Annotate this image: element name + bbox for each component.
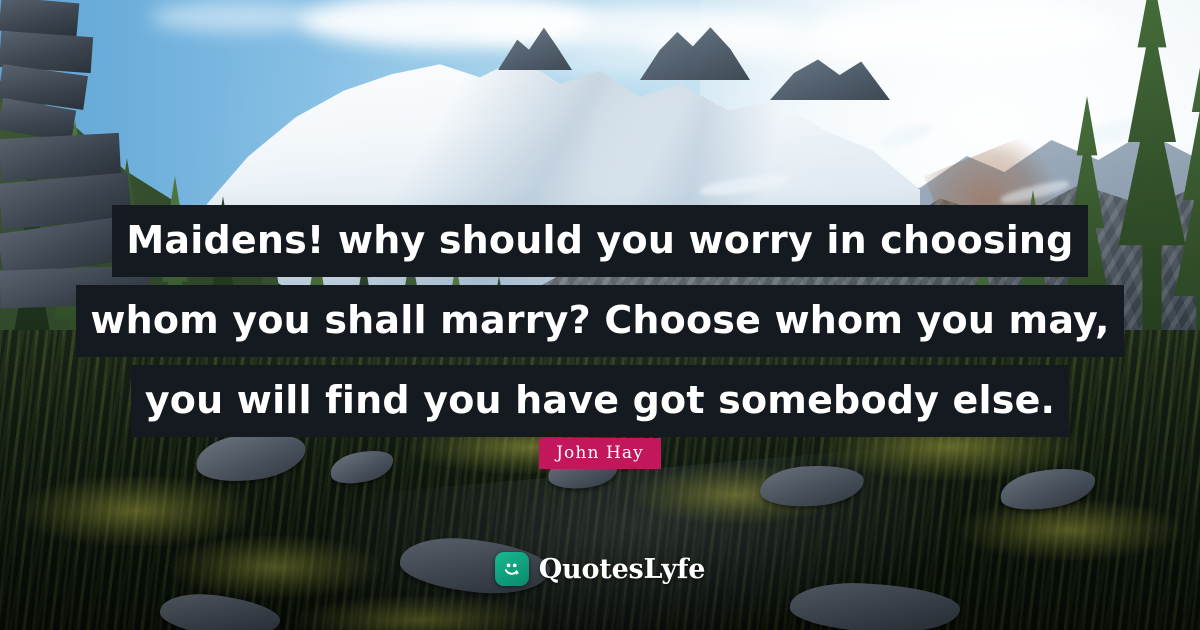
quote-line-2: whom you shall marry? Choose whom you ma…: [76, 285, 1123, 357]
quote-image-card: Maidens! why should you worry in choosin…: [0, 0, 1200, 630]
quote-line-row: Maidens! why should you worry in choosin…: [0, 205, 1200, 277]
quote-marks-icon: [495, 552, 529, 586]
cloud: [150, 2, 320, 32]
author-row: John Hay: [0, 438, 1200, 469]
author-badge: John Hay: [539, 438, 661, 469]
quote-line-1: Maidens! why should you worry in choosin…: [112, 205, 1087, 277]
quote-line-row: you will find you have got somebody else…: [0, 365, 1200, 437]
quote-line-row: whom you shall marry? Choose whom you ma…: [0, 285, 1200, 357]
quote-block: Maidens! why should you worry in choosin…: [0, 205, 1200, 437]
cloud: [810, 0, 1110, 60]
brand-name: QuotesLyfe: [539, 554, 706, 585]
sunlit-vegetation: [960, 500, 1180, 560]
quote-line-3: you will find you have got somebody else…: [131, 365, 1069, 437]
sunlit-vegetation: [300, 596, 540, 630]
brand-watermark: QuotesLyfe: [0, 552, 1200, 586]
